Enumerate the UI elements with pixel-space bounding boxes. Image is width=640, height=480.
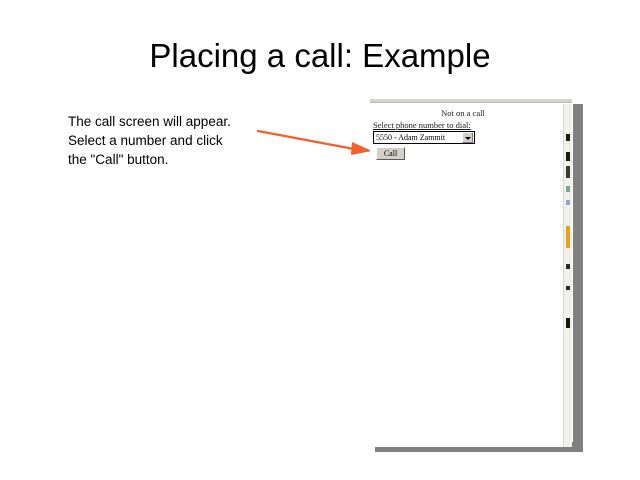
scrollbar-mark [566,186,570,192]
scrollbar-mark [566,226,570,248]
phone-number-select-value: 5550 - Adam Zammit [374,133,462,142]
scrollbar-mark [566,200,570,205]
presentation-slide: Placing a call: Example The call screen … [0,0,640,480]
call-status-text: Not on a call [370,108,556,118]
vertical-scrollbar[interactable] [563,104,572,447]
body-text-block: The call screen will appear. Select a nu… [68,112,298,169]
page-title: Placing a call: Example [0,36,640,76]
body-text-line: the "Call" button. [68,150,298,169]
scrollbar-mark [566,286,570,290]
body-text-line: The call screen will appear. [68,112,298,131]
call-button[interactable]: Call [376,147,405,160]
scrollbar-mark [566,318,570,328]
scrollbar-mark [566,166,570,178]
window-shadow-right [573,104,583,452]
select-phone-number-label: Select phone number to dial: [373,120,471,130]
scrollbar-mark [566,134,570,141]
arrow-head [351,142,372,155]
window-chrome-edge [370,99,572,103]
scrollbar-mark [566,152,570,161]
scrollbar-mark [566,264,570,269]
screenshot-window: Not on a call Select phone number to dia… [370,99,572,447]
chevron-down-icon[interactable] [462,132,473,143]
body-text-line: Select a number and click [68,131,298,150]
web-page-content: Not on a call Select phone number to dia… [370,104,562,447]
phone-number-select[interactable]: 5550 - Adam Zammit [373,131,475,144]
